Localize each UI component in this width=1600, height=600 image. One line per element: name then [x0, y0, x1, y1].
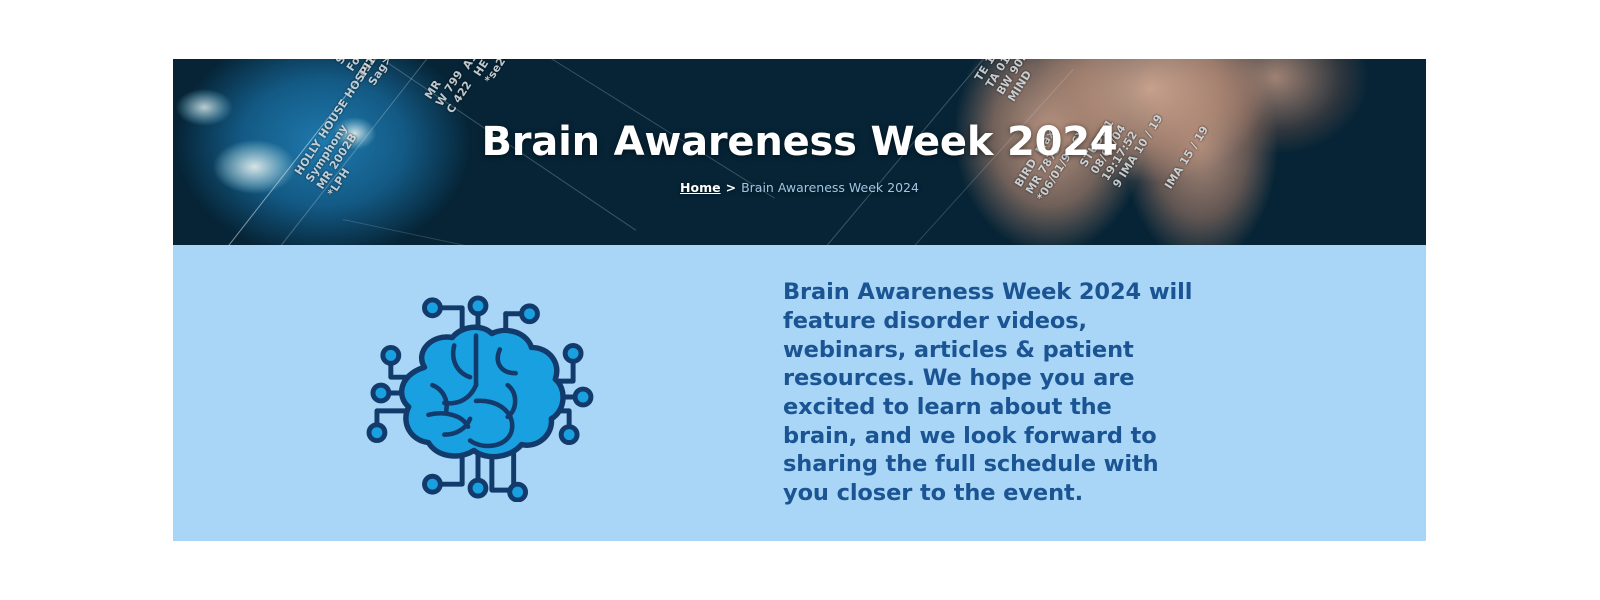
- breadcrumb-current-page: Brain Awareness Week 2024: [741, 180, 919, 195]
- brain-circuit-icon: [359, 290, 597, 502]
- page-root: SP R35.0 SL 5.0 FoV 230*230 192*256 Sag>…: [0, 0, 1600, 600]
- content-container: SP R35.0 SL 5.0 FoV 230*230 192*256 Sag>…: [173, 59, 1426, 541]
- breadcrumb-link-home[interactable]: Home: [680, 180, 721, 195]
- info-body-text: Brain Awareness Week 2024 will feature d…: [783, 278, 1193, 508]
- breadcrumb: Home > Brain Awareness Week 2024: [680, 180, 919, 195]
- breadcrumb-separator: >: [726, 180, 736, 195]
- hero-text-overlay: Brain Awareness Week 2024 Home > Brain A…: [173, 59, 1426, 245]
- info-panel: Brain Awareness Week 2024 will feature d…: [173, 245, 1426, 541]
- text-column: Brain Awareness Week 2024 will feature d…: [783, 278, 1426, 508]
- icon-column: [173, 284, 783, 502]
- page-title: Brain Awareness Week 2024: [481, 121, 1117, 163]
- hero-banner: SP R35.0 SL 5.0 FoV 230*230 192*256 Sag>…: [173, 59, 1426, 245]
